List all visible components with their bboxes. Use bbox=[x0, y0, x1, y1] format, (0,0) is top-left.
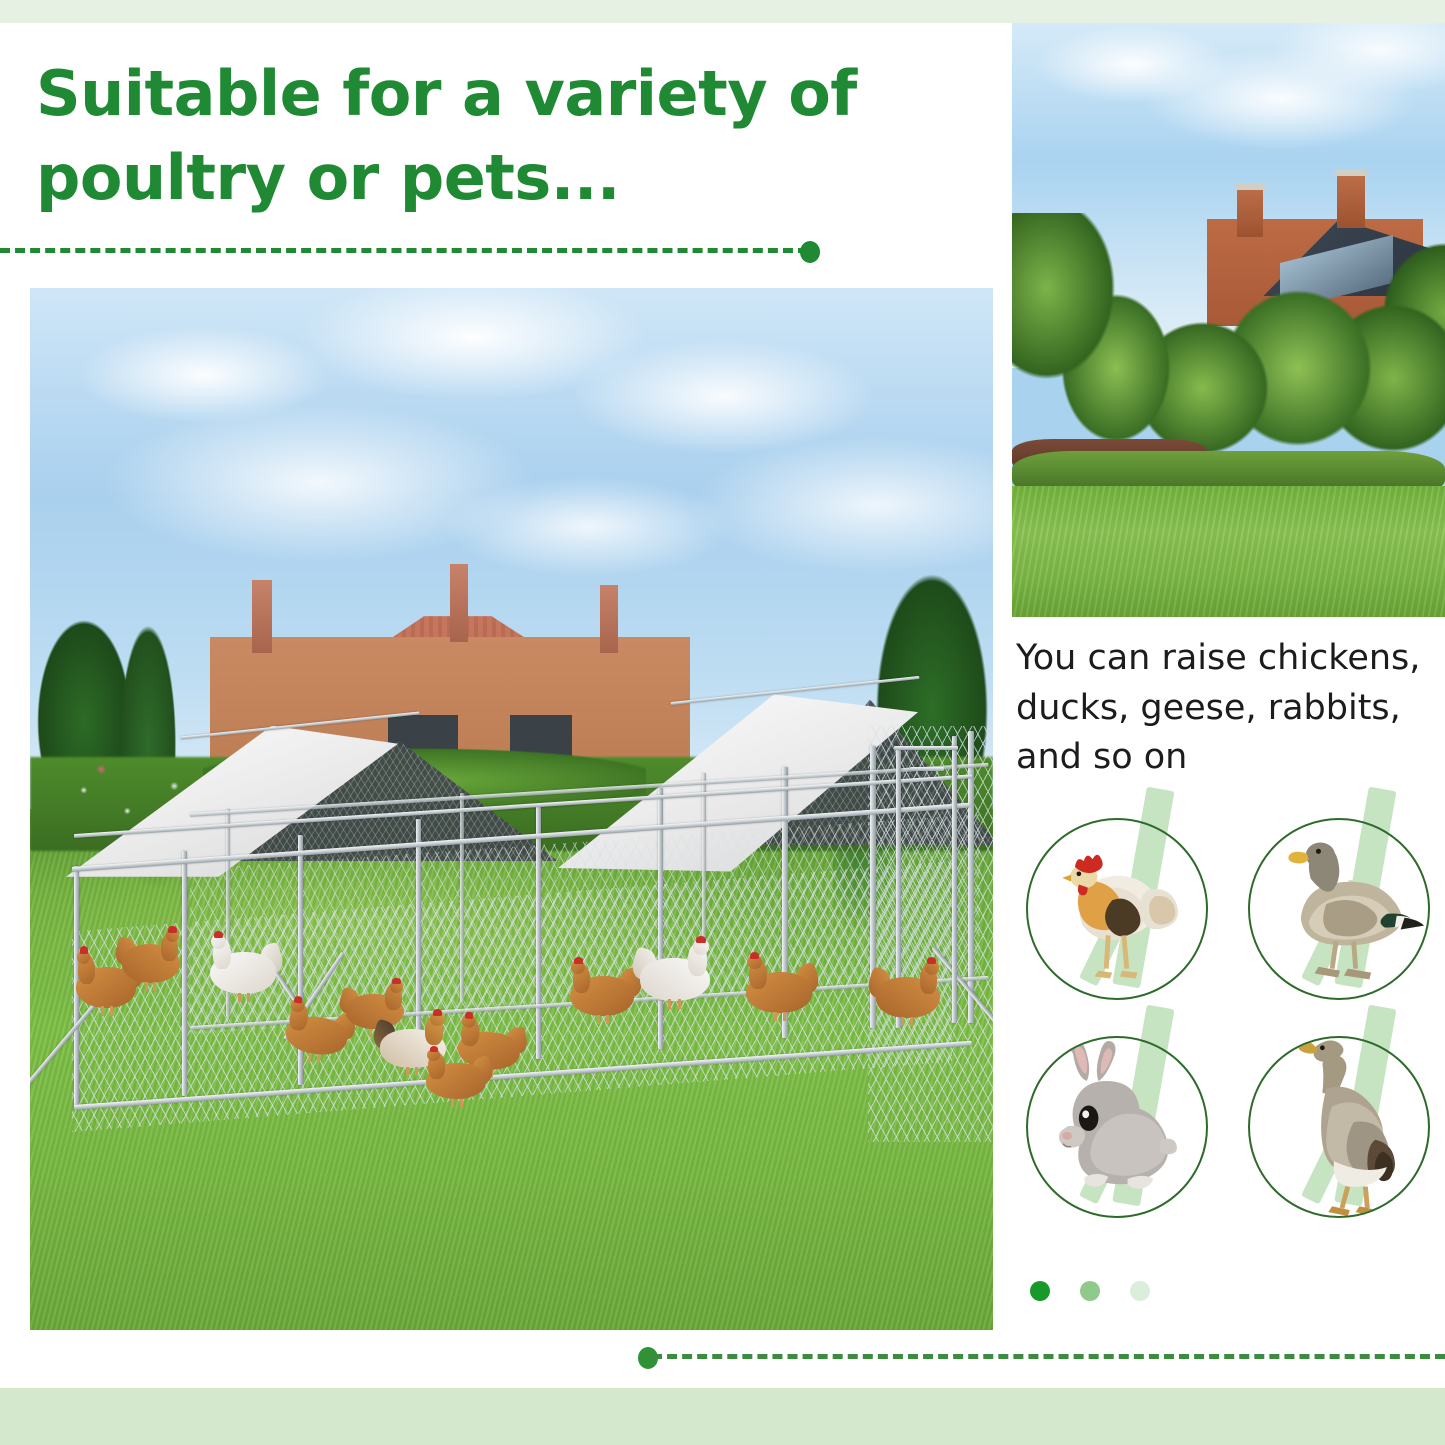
garden-lawn bbox=[1012, 486, 1445, 617]
animal-item-goose[interactable] bbox=[1248, 1036, 1430, 1218]
door-frame-top bbox=[894, 746, 958, 750]
supported-animals-grid bbox=[1026, 818, 1436, 1228]
animal-item-duck[interactable] bbox=[1248, 818, 1430, 1000]
chicken bbox=[570, 960, 634, 1024]
chicken-coop-structure bbox=[30, 288, 993, 1330]
bottom-accent-band bbox=[0, 1388, 1445, 1445]
headline-line-2: poultry or pets... bbox=[36, 136, 956, 220]
product-feature-slide: Suitable for a variety of poultry or pet… bbox=[0, 0, 1445, 1445]
headline-line-1: Suitable for a variety of bbox=[36, 57, 857, 130]
duck-icon bbox=[1250, 820, 1428, 998]
dashed-line bbox=[652, 1354, 1445, 1359]
pagination-dot-3[interactable] bbox=[1130, 1281, 1150, 1301]
rooster-icon bbox=[1028, 820, 1206, 998]
goose-icon bbox=[1250, 1038, 1428, 1216]
animal-circle-goose bbox=[1248, 1036, 1430, 1218]
dashed-line bbox=[0, 248, 808, 253]
chicken bbox=[640, 939, 710, 1009]
right-text-line-2: ducks, geese, rabbits, bbox=[1016, 684, 1436, 734]
chicken bbox=[210, 934, 276, 1002]
top-accent-band bbox=[0, 0, 1445, 23]
post-back-2 bbox=[460, 793, 464, 1001]
animal-circle-rabbit bbox=[1026, 1036, 1208, 1218]
main-product-photo bbox=[30, 288, 993, 1330]
garden-photo bbox=[1012, 23, 1445, 617]
post-2 bbox=[182, 851, 187, 1096]
chicken bbox=[122, 929, 180, 991]
animal-item-chicken[interactable] bbox=[1026, 818, 1208, 1000]
pagination-dot-1[interactable] bbox=[1030, 1281, 1050, 1301]
bottom-dashed-divider bbox=[638, 1352, 1445, 1362]
chicken bbox=[426, 1049, 486, 1107]
pagination-dot-2[interactable] bbox=[1080, 1281, 1100, 1301]
pagination-dots[interactable] bbox=[1030, 1281, 1150, 1301]
animal-item-rabbit[interactable] bbox=[1026, 1036, 1208, 1218]
door-latch bbox=[910, 767, 944, 771]
page-title: Suitable for a variety of poultry or pet… bbox=[36, 52, 956, 221]
animal-circle-chicken bbox=[1026, 818, 1208, 1000]
chicken bbox=[876, 960, 940, 1026]
right-description: You can raise chickens, ducks, geese, ra… bbox=[1016, 634, 1436, 783]
top-dashed-divider bbox=[0, 246, 820, 255]
garden-trees bbox=[1012, 213, 1445, 462]
mesh-wall-end-right bbox=[868, 726, 993, 1143]
animal-circle-duck bbox=[1248, 818, 1430, 1000]
divider-end-dot bbox=[800, 241, 820, 263]
chicken bbox=[746, 955, 812, 1021]
rabbit-icon bbox=[1028, 1038, 1206, 1216]
post-5 bbox=[536, 804, 541, 1059]
door-frame-right bbox=[952, 736, 957, 1023]
right-text-line-3: and so on bbox=[1016, 733, 1436, 783]
right-text-line-1: You can raise chickens, bbox=[1016, 634, 1436, 684]
